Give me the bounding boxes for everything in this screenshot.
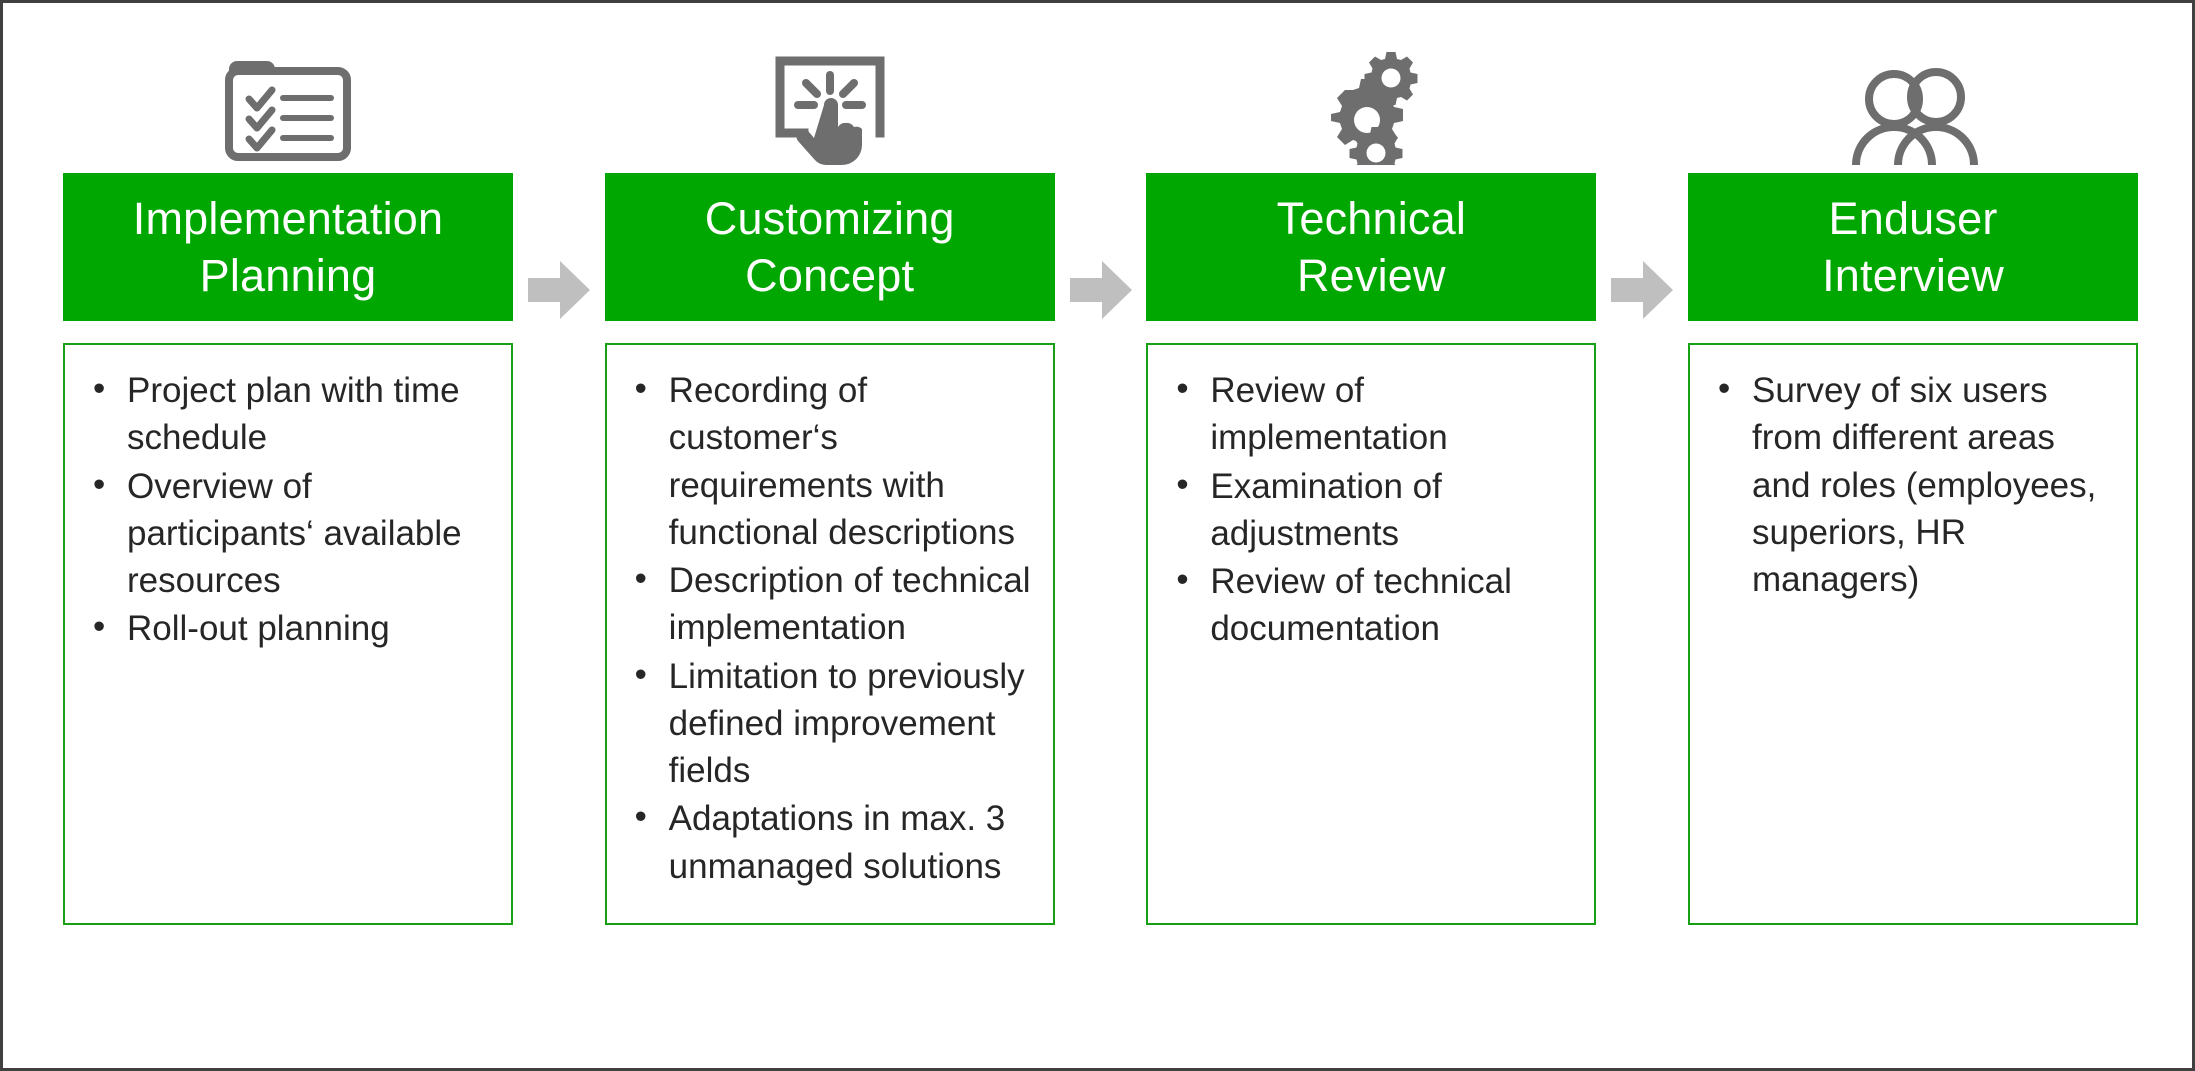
bullet-list: Recording of customer‘s requirements wit… bbox=[627, 367, 1039, 890]
list-item: Adaptations in max. 3 unmanaged solution… bbox=[627, 795, 1039, 890]
list-item: Recording of customer‘s requirements wit… bbox=[627, 367, 1039, 556]
stage-title-enduser-interview: Enduser Interview bbox=[1688, 173, 2138, 321]
bullet-list: Review of implementation Examination of … bbox=[1168, 367, 1580, 653]
bullet-list: Project plan with time schedule Overview… bbox=[85, 367, 497, 653]
arrow-slot-2 bbox=[1055, 3, 1147, 321]
stage-technical-review[interactable]: Technical Review Review of implementatio… bbox=[1146, 3, 1596, 925]
list-item: Review of technical documentation bbox=[1168, 558, 1580, 653]
list-item: Roll-out planning bbox=[85, 605, 497, 652]
arrow-right-icon bbox=[528, 261, 590, 319]
list-item: Survey of six users from different areas… bbox=[1710, 367, 2122, 603]
touch-click-screen-icon bbox=[605, 3, 1055, 173]
stage-body-implementation-planning: Project plan with time schedule Overview… bbox=[63, 343, 513, 925]
process-flow-diagram: Implementation Planning Project plan wit… bbox=[0, 0, 2195, 1071]
checklist-folder-icon bbox=[63, 3, 513, 173]
arrow-right-icon bbox=[1611, 261, 1673, 319]
stage-title-technical-review: Technical Review bbox=[1146, 173, 1596, 321]
list-item: Project plan with time schedule bbox=[85, 367, 497, 462]
gears-icon bbox=[1146, 3, 1596, 173]
list-item: Description of technical implementation bbox=[627, 557, 1039, 652]
stage-implementation-planning[interactable]: Implementation Planning Project plan wit… bbox=[63, 3, 513, 925]
list-item: Limitation to previously defined improve… bbox=[627, 653, 1039, 795]
arrow-slot-3 bbox=[1596, 3, 1688, 321]
two-people-icon bbox=[1688, 3, 2138, 173]
list-item: Overview of participants‘ available reso… bbox=[85, 463, 497, 605]
arrow-slot-1 bbox=[513, 3, 605, 321]
stage-body-technical-review: Review of implementation Examination of … bbox=[1146, 343, 1596, 925]
bullet-list: Survey of six users from different areas… bbox=[1710, 367, 2122, 603]
stage-title-implementation-planning: Implementation Planning bbox=[63, 173, 513, 321]
arrow-right-icon bbox=[1070, 261, 1132, 319]
list-item: Review of implementation bbox=[1168, 367, 1580, 462]
stage-customizing-concept[interactable]: Customizing Concept Recording of custome… bbox=[605, 3, 1055, 925]
stage-row: Implementation Planning Project plan wit… bbox=[3, 3, 2195, 1071]
list-item: Examination of adjustments bbox=[1168, 463, 1580, 558]
stage-enduser-interview[interactable]: Enduser Interview Survey of six users fr… bbox=[1688, 3, 2138, 925]
stage-title-customizing-concept: Customizing Concept bbox=[605, 173, 1055, 321]
stage-body-customizing-concept: Recording of customer‘s requirements wit… bbox=[605, 343, 1055, 925]
stage-body-enduser-interview: Survey of six users from different areas… bbox=[1688, 343, 2138, 925]
